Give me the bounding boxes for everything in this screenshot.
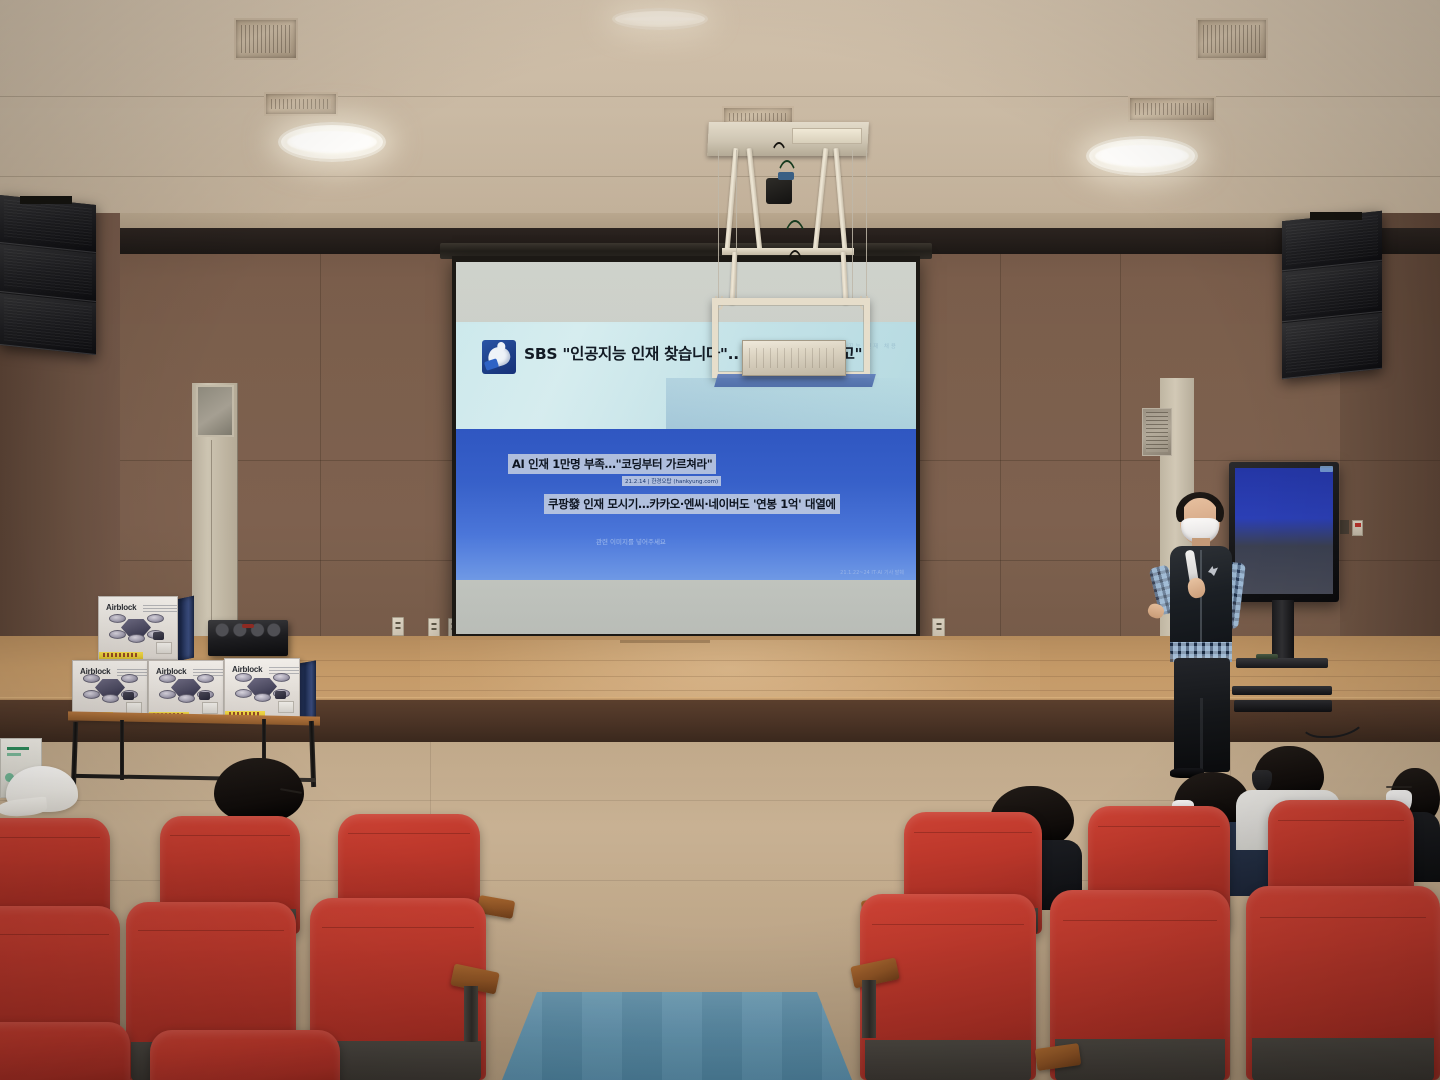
suspension-wire — [852, 150, 853, 300]
seat[interactable] — [0, 1022, 130, 1080]
slide-footer: 21.1.22~24 IT·AI 기사 발췌 — [840, 569, 904, 576]
airblock-box: Airblock — [224, 658, 300, 719]
auditorium-photo: SBS "인공지능 인재 찾습니다".. 채용대"이 이끌고" 인공지능 인재 … — [0, 0, 1440, 1080]
wall-panel-seam — [320, 253, 321, 653]
ceiling-light — [612, 8, 708, 30]
speaker-mount-left — [20, 196, 72, 204]
floor-seam — [620, 640, 710, 643]
display-brand-logo — [1320, 466, 1333, 472]
door-seam — [211, 440, 212, 640]
door-window — [196, 385, 234, 437]
airblock-brand-label: Airblock — [106, 603, 136, 612]
wall-outlet[interactable] — [932, 618, 945, 637]
speaker-mount-right — [1310, 212, 1362, 220]
slide-placeholder-note: 관련 이미지를 넣어주세요 — [596, 536, 666, 546]
ceiling-vent — [234, 18, 298, 60]
trouser-seam — [1200, 698, 1203, 772]
wall-outlet[interactable] — [392, 617, 404, 636]
seat[interactable] — [860, 894, 1036, 1080]
cable-connector — [778, 172, 794, 180]
table-leg — [120, 720, 124, 780]
wall-panel-seam — [1120, 253, 1121, 653]
ceiling-light — [1086, 136, 1198, 176]
line-array-speaker-right — [1282, 211, 1382, 380]
presenter-hair-side — [1216, 504, 1224, 522]
airblock-box: Airblock — [148, 660, 224, 720]
ceiling-vent — [1128, 96, 1216, 122]
ceiling-light — [278, 122, 386, 162]
presenter-speaker — [1148, 492, 1256, 792]
seat[interactable] — [150, 1030, 340, 1080]
ceiling-vent — [264, 92, 338, 116]
center-aisle-runner — [502, 992, 852, 1080]
suspension-wire — [718, 150, 719, 302]
wall-socket-indicator[interactable] — [1352, 520, 1363, 536]
suspension-wire — [866, 150, 867, 300]
wall-panel-seam — [1000, 253, 1001, 653]
black-drone-carry-case — [208, 620, 288, 656]
ceiling-vent — [1196, 18, 1268, 60]
box-side-panel — [298, 660, 316, 721]
wall-air-vent — [1142, 408, 1172, 456]
projector-ceiling-box — [792, 128, 862, 144]
vest-zipper — [1200, 550, 1202, 650]
ceiling-seam — [0, 176, 1440, 177]
projector-unit — [742, 340, 846, 376]
slide-headline-2: 쿠팡發 인재 모시기…카카오·엔씨·네이버도 '연봉 1억' 대열에 — [544, 494, 840, 514]
eyeglasses-icon — [1386, 786, 1412, 788]
sbs-hand-logo-icon — [482, 340, 516, 374]
seat-arm-post — [862, 980, 876, 1038]
seat-arm-post — [464, 986, 478, 1042]
line-array-speaker-left — [0, 195, 96, 355]
remote-control[interactable] — [1256, 654, 1278, 659]
cable-clamp — [766, 178, 792, 204]
ceiling-seam — [0, 96, 1440, 97]
tv-stand-post — [1272, 600, 1294, 662]
slide-headline-source: 21.2.14 | 한경오탑 (hankyung.com) — [622, 476, 721, 486]
seat[interactable] — [1246, 886, 1440, 1080]
suspension-wire — [736, 150, 737, 300]
slide-body: AI 인재 1만명 부족…"코딩부터 가르쳐라" 21.2.14 | 한경오탑 … — [456, 429, 916, 580]
airblock-box: Airblock — [98, 596, 178, 660]
slide-headline-1: AI 인재 1만명 부족…"코딩부터 가르쳐라" — [508, 454, 716, 474]
wall-plate — [1340, 520, 1349, 534]
wall-outlet[interactable] — [428, 618, 440, 637]
